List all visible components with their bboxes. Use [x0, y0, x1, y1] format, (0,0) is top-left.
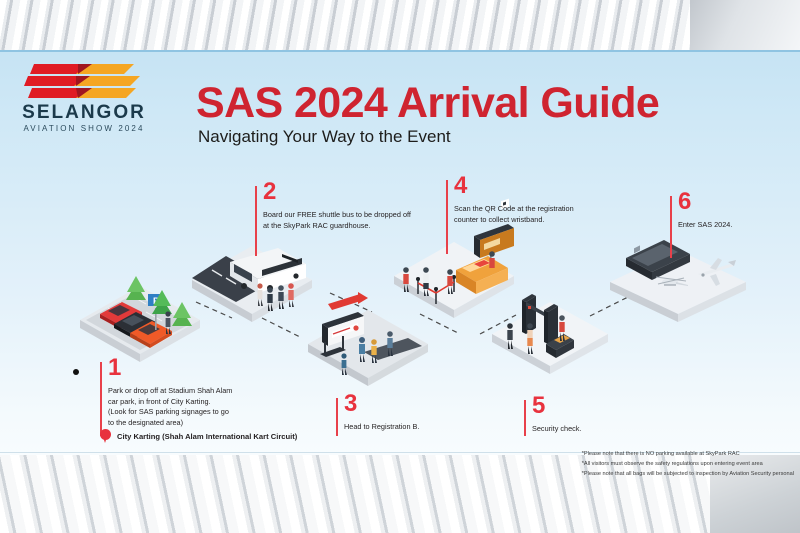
step-6-number: 6 — [678, 190, 691, 214]
step-5-rule — [524, 400, 526, 436]
step-1-text: Park or drop off at Stadium Shah Alam ca… — [108, 386, 273, 428]
footnote-2: *All visitors must observe the safety re… — [582, 460, 794, 470]
arrival-guide-poster: SELANGOR AVIATION SHOW 2024 SAS 2024 Arr… — [0, 0, 800, 533]
footnotes: *Please note that there is NO parking av… — [582, 450, 794, 479]
route-start-marker — [73, 369, 79, 375]
step-2-text: Board our FREE shuttle bus to be dropped… — [263, 210, 433, 231]
step-3-number: 3 — [344, 392, 357, 416]
step-3-text: Head to Registration B. — [344, 422, 464, 433]
step-2-rule — [255, 186, 257, 256]
step-6-text: Enter SAS 2024. — [678, 220, 788, 231]
step-1-rule — [100, 362, 102, 436]
location-label: City Karting (Shah Alam International Ka… — [117, 432, 297, 441]
step-5-number: 5 — [532, 394, 545, 418]
footnote-1: *Please note that there is NO parking av… — [582, 450, 794, 460]
step-6-rule — [670, 196, 672, 258]
step-3-rule — [336, 398, 338, 436]
step-4-text: Scan the QR Code at the registration cou… — [454, 204, 629, 225]
step-4-rule — [446, 180, 448, 254]
step-2-number: 2 — [263, 180, 276, 204]
security-check-scene — [488, 286, 618, 386]
step-5-text: Security check. — [532, 424, 642, 435]
map-pin-icon — [100, 429, 111, 444]
step-4-number: 4 — [454, 174, 467, 198]
step-1-number: 1 — [108, 356, 121, 380]
shuttle-bus-scene — [186, 236, 321, 331]
event-entrance-scene — [606, 240, 756, 326]
location-row: City Karting (Shah Alam International Ka… — [100, 429, 297, 444]
footnote-3: *Please note that all bags will be subje… — [582, 470, 794, 480]
